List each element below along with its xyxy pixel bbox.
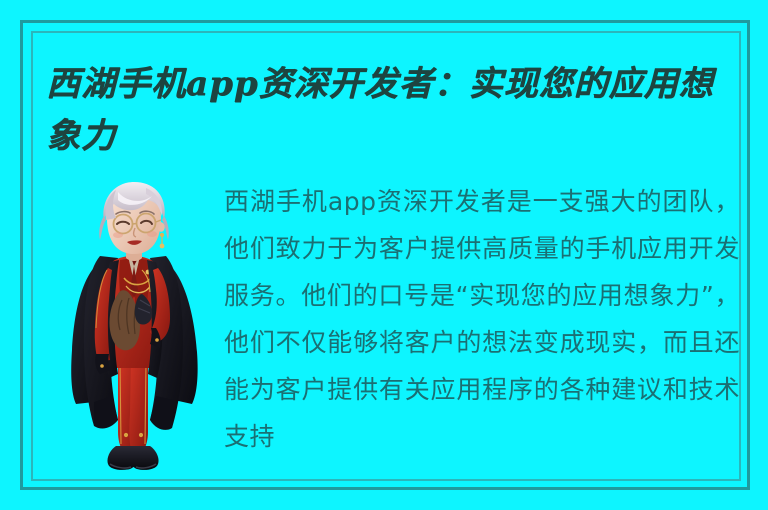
character-head: [99, 182, 169, 254]
poster-canvas: 西湖手机app资深开发者：实现您的应用想象力: [0, 0, 768, 510]
character-legs: [118, 358, 148, 450]
page-title: 西湖手机app资深开发者：实现您的应用想象力: [46, 58, 746, 162]
character-shoes: [107, 446, 158, 470]
character-illustration: [60, 182, 210, 478]
body-paragraph: 西湖手机app资深开发者是一支强大的团队，他们致力于为客户提供高质量的手机应用开…: [224, 178, 740, 460]
